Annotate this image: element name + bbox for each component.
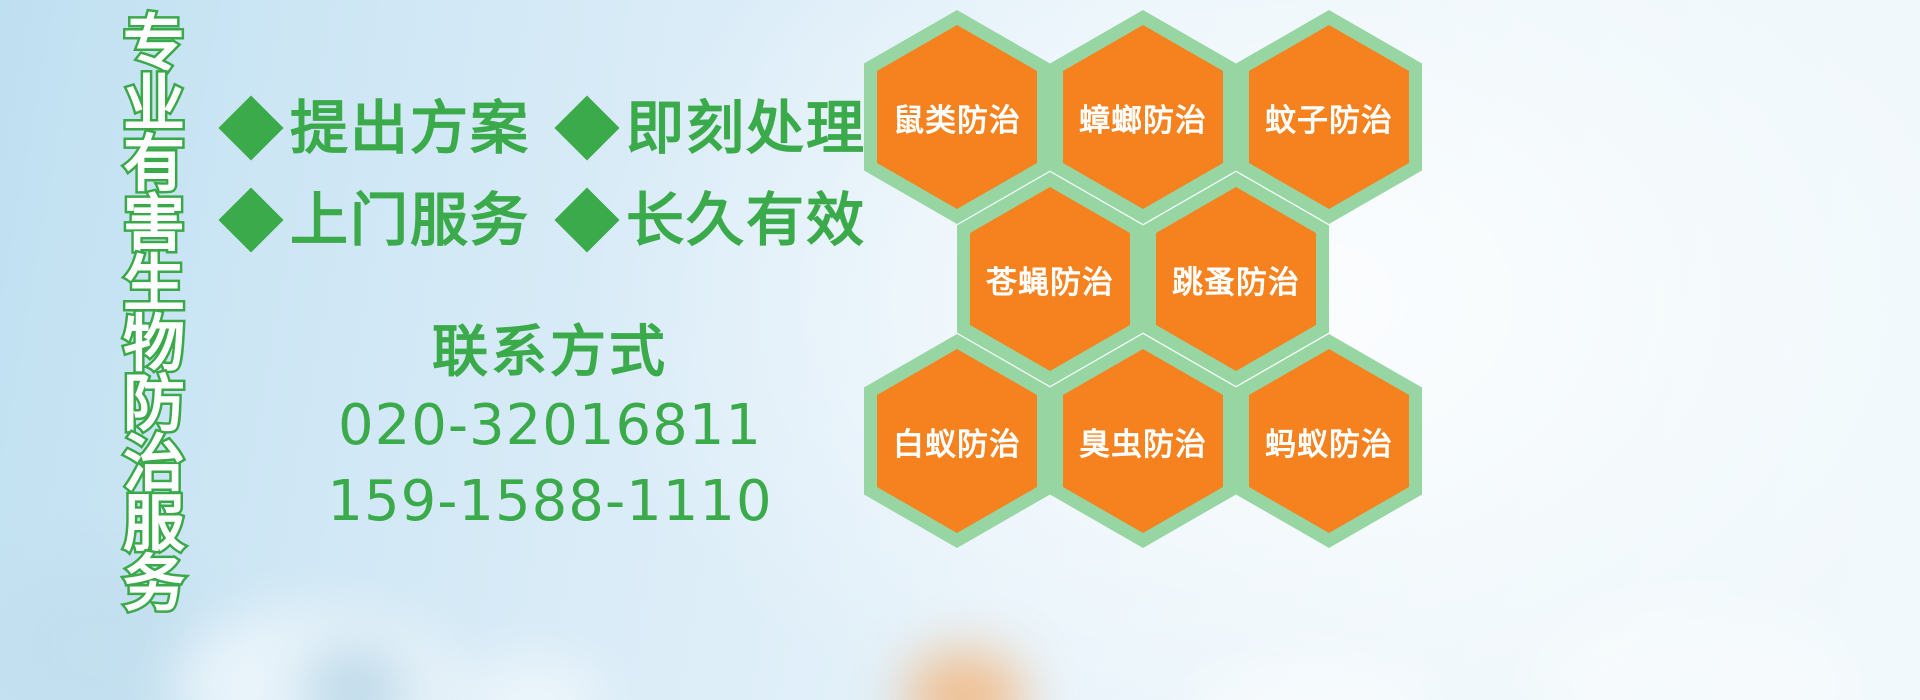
vertical-slogan-char: 物 [123,314,185,374]
contact-phone-mobile[interactable]: 159-1588-1110 [300,464,800,540]
vertical-slogan-char: 防 [123,374,185,434]
feature-row: 上门服务 长久有效 [228,174,868,266]
feature-label: 长久有效 [626,191,866,249]
service-hex-label: 蟑螂防治 [1079,95,1207,140]
service-hex-label: 鼠类防治 [893,95,1021,140]
background-blur-blob [170,610,460,700]
service-hex-label: 跳蚤防治 [1172,257,1300,302]
background-blur-blob [1530,600,1860,700]
vertical-slogan-char: 生 [123,254,185,314]
vertical-slogan-char: 害 [123,194,185,254]
feature-item: 即刻处理 [564,99,866,157]
diamond-bullet-icon [218,95,283,160]
contact-block: 联系方式 020-32016811 159-1588-1110 [300,318,800,539]
feature-row: 提出方案 即刻处理 [228,82,868,174]
background-blur-blob [1180,660,1440,700]
service-hex-ant[interactable]: 蚂蚁防治 [1236,334,1422,548]
diamond-bullet-icon [218,187,283,252]
diamond-bullet-icon [554,95,619,160]
service-hex-label: 苍蝇防治 [986,257,1114,302]
vertical-slogan-char: 务 [123,554,185,614]
vertical-slogan-char: 治 [123,434,185,494]
feature-label: 即刻处理 [626,99,866,157]
service-hex-label: 蚊子防治 [1265,95,1393,140]
feature-item: 提出方案 [228,99,530,157]
diamond-bullet-icon [554,187,619,252]
feature-item: 上门服务 [228,191,530,249]
service-hex-termite[interactable]: 白蚁防治 [864,334,1050,548]
background-blur-blob [905,650,1025,700]
banner-canvas: 专 业 有 害 生 物 防 治 服 务 提出方案 即刻处理 上门服务 [0,0,1920,700]
service-hex-label: 白蚁防治 [893,419,1021,464]
service-hex-bedbug[interactable]: 臭虫防治 [1050,334,1236,548]
vertical-slogan-char: 服 [123,494,185,554]
vertical-slogan-char: 专 [123,14,185,74]
vertical-slogan: 专 业 有 害 生 物 防 治 服 务 [108,14,200,554]
feature-label: 上门服务 [290,191,530,249]
vertical-slogan-char: 业 [123,74,185,134]
contact-title: 联系方式 [300,318,800,388]
service-honeycomb: 鼠类防治 蟑螂防治 蚊子防治 苍蝇防治 跳蚤防治 白蚁防治 [858,0,1458,580]
background-blur-blob [455,655,605,700]
feature-label: 提出方案 [290,99,530,157]
service-hex-label: 蚂蚁防治 [1265,419,1393,464]
service-hex-label: 臭虫防治 [1079,419,1207,464]
vertical-slogan-char: 有 [123,134,185,194]
background-blur-blob [300,645,410,700]
feature-item: 长久有效 [564,191,866,249]
contact-phone-landline[interactable]: 020-32016811 [300,388,800,464]
feature-list: 提出方案 即刻处理 上门服务 长久有效 [228,82,868,266]
